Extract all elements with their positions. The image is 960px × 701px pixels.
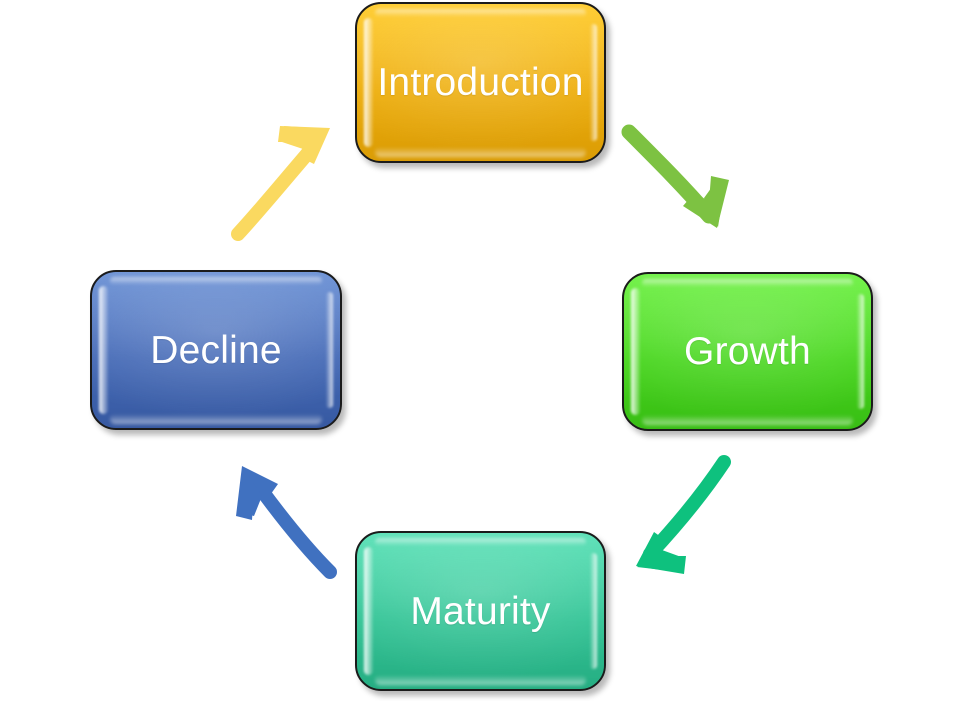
stage-box-maturity-gloss-top [375, 538, 586, 546]
stage-box-maturity-gloss-right [590, 553, 597, 669]
stage-box-decline-gloss-right [326, 292, 333, 408]
stage-box-introduction-gloss-left [364, 18, 373, 147]
stage-box-introduction[interactable]: Introduction [355, 2, 606, 163]
stage-box-decline-gloss-bottom [110, 414, 322, 424]
arrow-growth-to-maturity-shape [636, 462, 724, 574]
stage-box-growth-gloss-bottom [642, 415, 853, 425]
stage-label-growth: Growth [684, 332, 811, 371]
stage-box-introduction-gloss-right [590, 24, 597, 141]
arrow-growth-to-maturity [612, 450, 762, 595]
stage-label-introduction: Introduction [377, 63, 583, 102]
stage-box-maturity-gloss-bottom [375, 675, 586, 685]
cycle-diagram-canvas: Introduction Growth Maturity Decline [0, 0, 960, 701]
stage-box-decline[interactable]: Decline [90, 270, 342, 430]
stage-box-growth-gloss-right [857, 294, 864, 409]
arrow-decline-to-introduction [222, 110, 367, 250]
arrow-introduction-to-growth-shape [629, 132, 729, 228]
stage-box-growth-gloss-left [631, 288, 640, 415]
arrow-maturity-to-decline-shape [236, 466, 330, 572]
arrow-maturity-to-decline [218, 450, 363, 590]
stage-box-decline-gloss-left [99, 286, 108, 414]
arrow-introduction-to-growth [605, 110, 765, 250]
stage-box-introduction-gloss-top [375, 9, 586, 17]
stage-label-decline: Decline [150, 331, 281, 370]
stage-box-growth[interactable]: Growth [622, 272, 873, 431]
stage-box-decline-gloss-top [110, 277, 322, 285]
stage-box-maturity[interactable]: Maturity [355, 531, 606, 691]
stage-box-maturity-gloss-left [364, 547, 373, 675]
stage-box-growth-gloss-top [642, 279, 853, 287]
arrow-decline-to-introduction-shape [238, 126, 330, 234]
stage-label-maturity: Maturity [410, 592, 550, 631]
stage-box-introduction-gloss-bottom [375, 147, 586, 157]
